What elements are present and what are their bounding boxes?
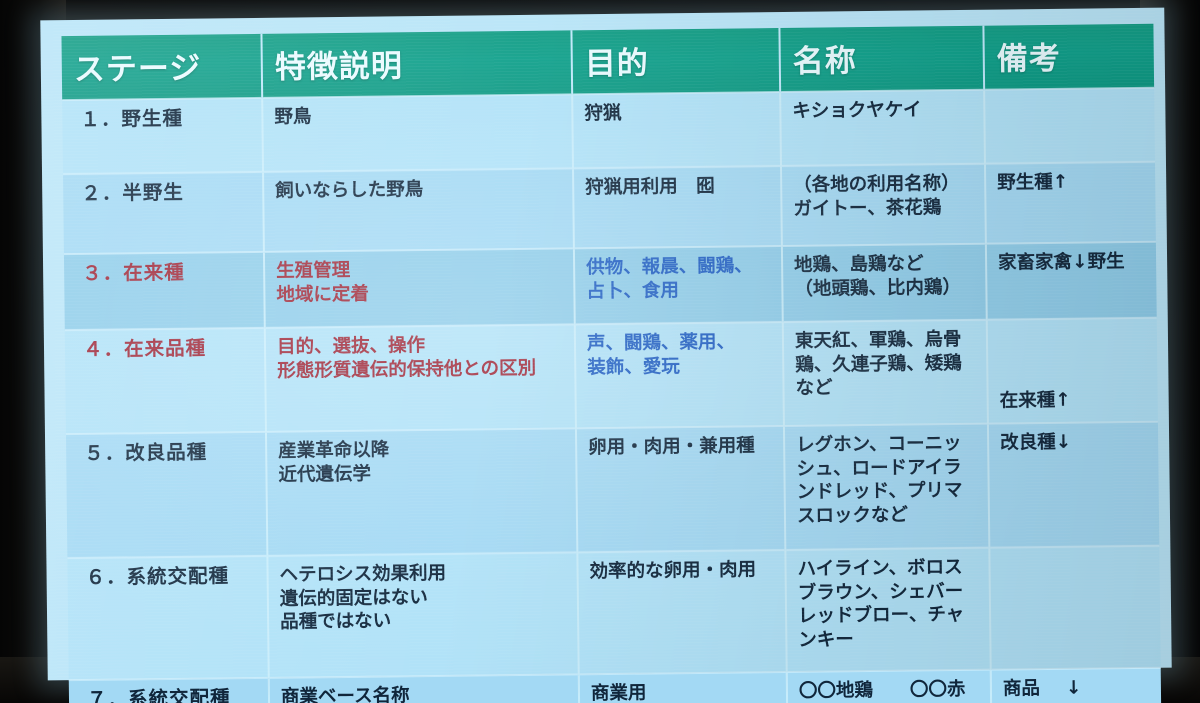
cell-remarks <box>984 88 1155 164</box>
cell-features: 目的、選抜、操作 形態形質遺伝的保持他との区別 <box>265 324 576 432</box>
cell-stage: ５．改良品種 <box>66 432 267 558</box>
header-stage: ステージ <box>61 34 262 100</box>
header-features: 特徴説明 <box>261 30 572 98</box>
header-purpose: 目的 <box>571 28 780 94</box>
table-row: ５．改良品種 産業革命以降 近代遺伝学 卵用・肉用・兼用種 レグホン、コーニッ … <box>66 422 1159 558</box>
cell-names: （各地の利用名称） ガイトー、茶花鶏 <box>781 164 986 246</box>
projection-screen: ステージ 特徴説明 目的 名称 備考 １．野生種 野鳥 狩猟 キショクヤケイ <box>40 8 1171 681</box>
table-row: ２．半野生 飼いならした野鳥 狩猟用利用 囮 （各地の利用名称） ガイトー、茶花… <box>63 162 1156 254</box>
cell-stage: ４．在来品種 <box>65 328 266 434</box>
cell-stage: １．野生種 <box>62 98 263 174</box>
cell-stage: ７．系統交配種 <box>69 678 270 703</box>
cell-names: 〇〇地鶏 〇〇赤鶏 〇〇若鶏 <box>787 670 992 703</box>
cell-features: 生殖管理 地域に定着 <box>264 248 575 328</box>
cell-remarks: 商品↓ <box>991 668 1162 703</box>
cell-stage: ３．在来種 <box>64 252 265 330</box>
cell-stage: ２．半野生 <box>63 172 264 254</box>
table-row: １．野生種 野鳥 狩猟 キショクヤケイ <box>62 88 1155 174</box>
cell-purpose: 商業用 <box>579 672 788 703</box>
down-arrow-icon: ↓ <box>1066 678 1082 699</box>
slide-surface: ステージ 特徴説明 目的 名称 備考 １．野生種 野鳥 狩猟 キショクヤケイ <box>40 8 1171 681</box>
cell-purpose: 声、闘鶏、薬用、 装飾、愛玩 <box>575 322 784 428</box>
cell-purpose: 卵用・肉用・兼用種 <box>576 426 785 552</box>
cell-remarks: 改良種↓ <box>988 422 1159 548</box>
cell-features: ヘテロシス効果利用 遺伝的固定はない 品種ではない <box>267 552 578 678</box>
cell-names: 東天紅、軍鶏、烏骨 鶏、久連子鶏、矮鶏 など <box>783 320 988 426</box>
cell-names: ハイライン、ボロス ブラウン、シェバー レッドブロー、チャ ンキー <box>785 548 990 672</box>
cell-names: レグホン、コーニッ シュ、ロードアイラ ンドレッド、プリマ スロックなど <box>784 424 989 550</box>
header-names: 名称 <box>779 26 984 92</box>
table-row: ３．在来種 生殖管理 地域に定着 供物、報晨、闘鶏、 占卜、食用 地鶏、島鶏など… <box>64 242 1157 330</box>
cell-purpose: 狩猟用利用 囮 <box>573 166 782 248</box>
cell-remarks: 家畜家禽↓野生 <box>986 242 1157 320</box>
cell-features: 商業ベース名称 銘柄・ブランド <box>269 674 580 703</box>
cell-purpose: 効率的な卵用・肉用 <box>577 550 786 674</box>
cell-stage: ６．系統交配種 <box>67 556 268 680</box>
cell-features: 産業革命以降 近代遺伝学 <box>266 428 577 556</box>
header-remarks: 備考 <box>983 24 1154 90</box>
projected-slide-photo: ステージ 特徴説明 目的 名称 備考 １．野生種 野鳥 狩猟 キショクヤケイ <box>0 0 1200 703</box>
stage-table: ステージ 特徴説明 目的 名称 備考 １．野生種 野鳥 狩猟 キショクヤケイ <box>61 24 1161 703</box>
cell-purpose: 狩猟 <box>572 92 781 168</box>
cell-remarks: 野生種↑ <box>985 162 1156 244</box>
remarks-label: 商品 <box>1003 678 1040 699</box>
cell-features: 飼いならした野鳥 <box>263 168 574 252</box>
cell-names: 地鶏、島鶏など （地頭鶏、比内鶏） <box>782 244 987 322</box>
table-row: ６．系統交配種 ヘテロシス効果利用 遺伝的固定はない 品種ではない 効率的な卵用… <box>67 546 1160 680</box>
cell-purpose: 供物、報晨、闘鶏、 占卜、食用 <box>574 246 783 324</box>
cell-names: キショクヤケイ <box>780 90 985 166</box>
cell-remarks: 在来種↑ <box>987 318 1158 424</box>
cell-remarks <box>989 546 1160 670</box>
table-row: ４．在来品種 目的、選抜、操作 形態形質遺伝的保持他との区別 声、闘鶏、薬用、 … <box>65 318 1158 434</box>
cell-features: 野鳥 <box>262 94 573 172</box>
